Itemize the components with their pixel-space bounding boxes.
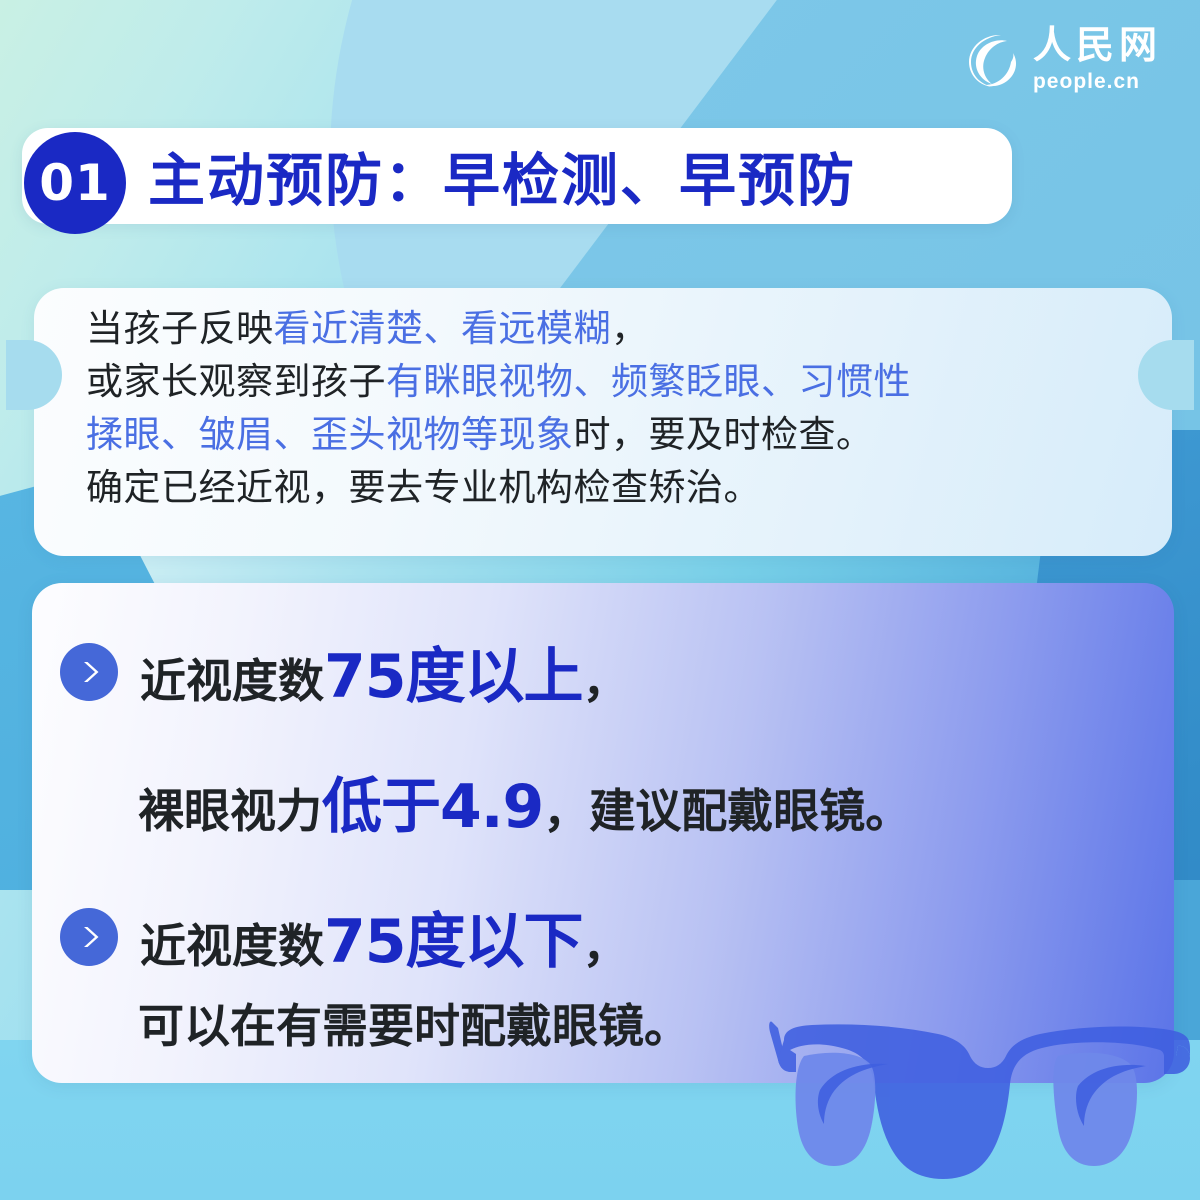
section-title: 主动预防：早检测、早预防 bbox=[148, 133, 856, 219]
symptoms-line1-plain-a: 当孩子反映 bbox=[86, 307, 274, 350]
chevron-right-icon bbox=[60, 643, 118, 701]
section-number-badge: 01 bbox=[24, 132, 126, 234]
symptoms-text: 当孩子反映看近清楚、看远模糊， 或家长观察到孩子有眯眼视物、频繁眨眼、习惯性 揉… bbox=[86, 302, 1146, 514]
brand-logo-text: 人民网 people.cn bbox=[1033, 26, 1162, 96]
advice-1-head-emphasis: 75度以上 bbox=[324, 642, 583, 712]
symptoms-line3-plain-b: 时，要及时检查。 bbox=[574, 413, 874, 456]
symptoms-line1-highlight: 看近清楚、看远模糊 bbox=[274, 307, 612, 350]
symptoms-line4-plain: 确定已经近视，要去专业机构检查矫治。 bbox=[86, 466, 761, 509]
people-cn-logo-icon bbox=[955, 28, 1021, 94]
symptoms-line2-plain-a: 或家长观察到孩子 bbox=[86, 360, 386, 403]
advice-item-1-sub: 裸眼视力低于4.9，建议配戴眼镜。 bbox=[138, 758, 911, 845]
chevron-right-icon bbox=[60, 908, 118, 966]
symptoms-line3-highlight: 揉眼、皱眉、歪头视物等现象 bbox=[86, 413, 574, 456]
advice-item-2-head-text: 近视度数75度以下， bbox=[140, 893, 629, 980]
advice-2-head-tail: ， bbox=[583, 919, 629, 973]
advice-item-1-head-text: 近视度数75度以上， bbox=[140, 628, 629, 715]
advice-1-sub-plain-a: 裸眼视力 bbox=[138, 784, 322, 838]
advice-2-sub-plain-a: 可以在有需要时配戴眼镜。 bbox=[138, 999, 690, 1053]
advice-item-2-head: 近视度数75度以下， bbox=[60, 893, 629, 980]
advice-item-1-head: 近视度数75度以上， bbox=[60, 628, 629, 715]
advice-1-head-tail: ， bbox=[583, 654, 629, 708]
symptoms-line-2: 或家长观察到孩子有眯眼视物、频繁眨眼、习惯性 bbox=[86, 355, 1146, 408]
advice-2-head-emphasis: 75度以下 bbox=[324, 907, 583, 977]
symptoms-line-1: 当孩子反映看近清楚、看远模糊， bbox=[86, 302, 1146, 355]
infographic-poster: 人民网 people.cn 01 主动预防：早检测、早预防 当孩子反映看近清楚、… bbox=[0, 0, 1200, 1200]
advice-1-sub-plain-b: ，建议配戴眼镜。 bbox=[543, 784, 911, 838]
advice-1-head-plain: 近视度数 bbox=[140, 654, 324, 708]
symptoms-line-4: 确定已经近视，要去专业机构检查矫治。 bbox=[86, 461, 1146, 514]
brand-name-en: people.cn bbox=[1033, 67, 1140, 96]
advice-1-sub-emphasis: 低于4.9 bbox=[322, 772, 543, 842]
symptoms-line-3: 揉眼、皱眉、歪头视物等现象时，要及时检查。 bbox=[86, 408, 1146, 461]
advice-item-2-sub: 可以在有需要时配戴眼镜。 bbox=[138, 990, 690, 1056]
advice-2-head-plain: 近视度数 bbox=[140, 919, 324, 973]
symptoms-line1-plain-b: ， bbox=[611, 307, 649, 350]
brand-logo: 人民网 people.cn bbox=[955, 26, 1162, 96]
symptoms-line2-highlight: 有眯眼视物、频繁眨眼、习惯性 bbox=[386, 360, 911, 403]
brand-name-cn: 人民网 bbox=[1033, 26, 1162, 64]
